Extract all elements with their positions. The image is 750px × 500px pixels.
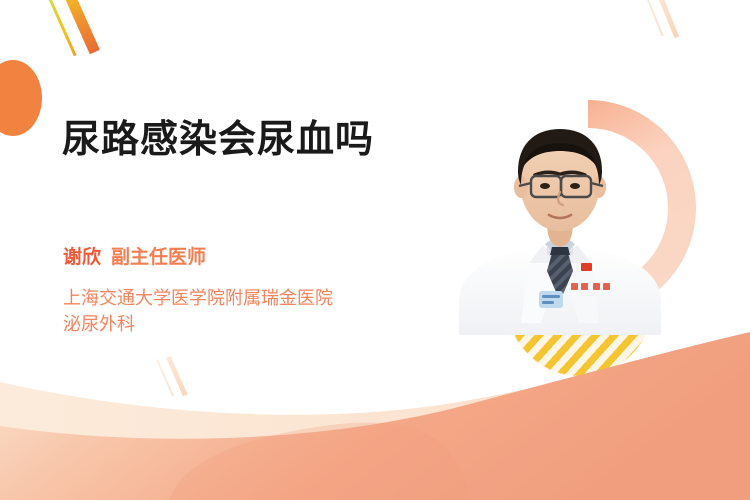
id-badge-icon: [539, 291, 563, 308]
page-title: 尿路感染会尿血吗: [62, 116, 374, 164]
stripe-thick-icon: [63, 0, 100, 54]
doctor-rank: 副主任医师: [111, 246, 206, 268]
stripe-thin-icon: [47, 0, 76, 56]
stripe-thin-icon: [643, 0, 664, 36]
orange-circle-decoration: [0, 60, 42, 136]
doctor-video-cover-card: 尿路感染会尿血吗 谢欣副主任医师 上海交通大学医学院附属瑞金医院 泌尿外科: [0, 0, 750, 500]
doctor-hospital: 上海交通大学医学院附属瑞金医院: [63, 286, 333, 312]
top-left-stripes-decoration: [0, 0, 200, 90]
stripe-thick-icon: [166, 356, 188, 396]
doctor-portrait: [455, 95, 665, 335]
stripe-thick-icon: [655, 0, 679, 38]
doctor-affiliation: 上海交通大学医学院附属瑞金医院 泌尿外科: [63, 286, 333, 337]
doctor-name: 谢欣: [63, 246, 101, 268]
flag-pin-icon: [581, 263, 592, 271]
stripe-thin-icon: [156, 359, 174, 396]
bottom-waves-decoration: [0, 330, 750, 500]
top-right-stripes-decoration: [0, 0, 750, 80]
doctor-department: 泌尿外科: [63, 312, 333, 338]
doctor-byline: 谢欣副主任医师: [63, 248, 206, 267]
